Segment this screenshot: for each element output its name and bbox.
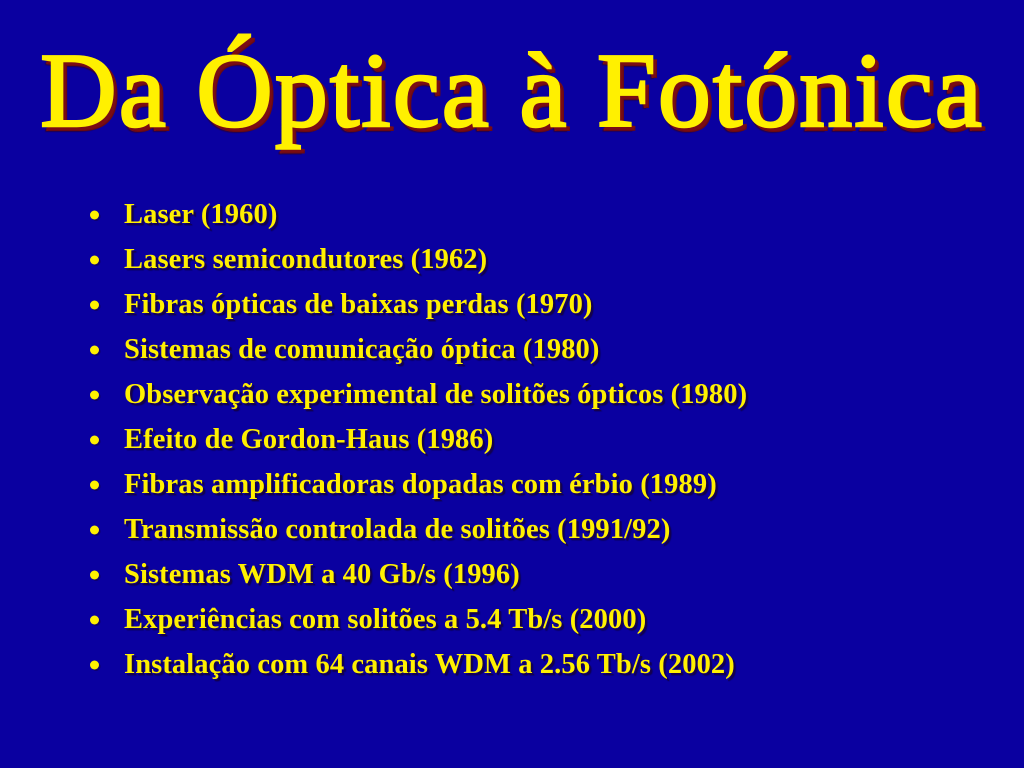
list-item-label: Transmissão controlada de solitões (1991… (124, 514, 670, 546)
bullet-dot-icon (90, 615, 99, 624)
list-item-label: Efeito de Gordon-Haus (1986) (124, 424, 493, 456)
list-item-label: Sistemas WDM a 40 Gb/s (1996) (124, 559, 520, 591)
bullet-dot-icon (90, 300, 99, 309)
list-item: Fibras ópticas de baixas perdas (1970) (84, 282, 984, 327)
bullet-list: Laser (1960) Lasers semicondutores (1962… (84, 192, 984, 687)
bullet-dot-icon (90, 435, 99, 444)
list-item: Laser (1960) (84, 192, 984, 237)
bullet-dot-icon (90, 255, 99, 264)
list-item: Fibras amplificadoras dopadas com érbio … (84, 462, 984, 507)
list-item: Sistemas WDM a 40 Gb/s (1996) (84, 552, 984, 597)
list-item-label: Observação experimental de solitões ópti… (124, 379, 747, 411)
list-item-label: Experiências com solitões a 5.4 Tb/s (20… (124, 604, 646, 636)
list-item: Lasers semicondutores (1962) (84, 237, 984, 282)
list-item: Sistemas de comunicação óptica (1980) (84, 327, 984, 372)
bullet-dot-icon (90, 390, 99, 399)
list-item: Instalação com 64 canais WDM a 2.56 Tb/s… (84, 642, 984, 687)
bullet-dot-icon (90, 525, 99, 534)
list-item-label: Sistemas de comunicação óptica (1980) (124, 334, 599, 366)
list-item: Observação experimental de solitões ópti… (84, 372, 984, 417)
bullet-dot-icon (90, 570, 99, 579)
list-item-label: Fibras amplificadoras dopadas com érbio … (124, 469, 717, 501)
slide-title-container: Da Óptica à Fotónica (0, 38, 1024, 144)
presentation-slide: Da Óptica à Fotónica Laser (1960) Lasers… (0, 0, 1024, 768)
bullet-dot-icon (90, 210, 99, 219)
list-item: Transmissão controlada de solitões (1991… (84, 507, 984, 552)
bullet-dot-icon (90, 345, 99, 354)
list-item: Efeito de Gordon-Haus (1986) (84, 417, 984, 462)
list-item: Experiências com solitões a 5.4 Tb/s (20… (84, 597, 984, 642)
list-item-label: Fibras ópticas de baixas perdas (1970) (124, 289, 593, 321)
list-item-label: Instalação com 64 canais WDM a 2.56 Tb/s… (124, 649, 735, 681)
list-item-label: Laser (1960) (124, 199, 277, 231)
list-item-label: Lasers semicondutores (1962) (124, 244, 487, 276)
bullet-dot-icon (90, 480, 99, 489)
slide-title: Da Óptica à Fotónica (40, 38, 984, 144)
bullet-dot-icon (90, 660, 99, 669)
